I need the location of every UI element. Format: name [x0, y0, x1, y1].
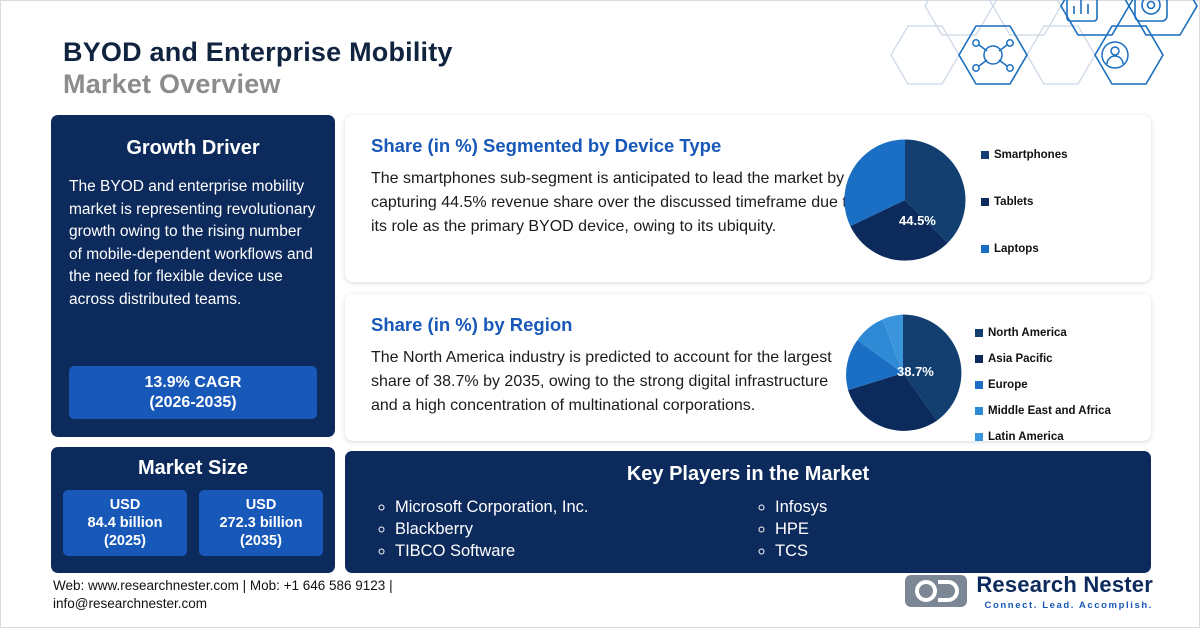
legend-label: Laptops: [994, 243, 1039, 255]
region-text: The North America industry is predicted …: [371, 346, 851, 418]
footer-contact: Web: www.researchnester.com | Mob: +1 64…: [53, 577, 393, 613]
growth-driver-body: The BYOD and enterprise mobility market …: [69, 176, 317, 311]
brand-tagline: Connect. Lead. Accomplish.: [976, 600, 1153, 611]
list-item: TCS: [775, 540, 827, 562]
hexagon-decoration: [871, 0, 1200, 115]
device-type-title: Share (in %) Segmented by Device Type: [371, 135, 721, 157]
device-type-pie-chart: 44.5%: [842, 137, 968, 268]
market-size-year: (2025): [104, 532, 146, 550]
list-item: Blackberry: [395, 518, 761, 540]
legend-item: Asia Pacific: [975, 353, 1111, 365]
legend-item: Laptops: [981, 243, 1068, 255]
brand-name-second: Nester: [1083, 572, 1153, 597]
legend-label: North America: [988, 327, 1067, 339]
list-item: Infosys: [775, 496, 827, 518]
footer-line-2: info@researchnester.com: [53, 595, 393, 613]
legend-item: North America: [975, 327, 1111, 339]
cagr-value: 13.9% CAGR: [69, 373, 317, 393]
device-type-legend: Smartphones Tablets Laptops: [981, 149, 1068, 265]
market-size-item: USD 272.3 billion (2035): [199, 490, 323, 556]
market-size-card: Market Size USD 84.4 billion (2025) USD …: [51, 447, 335, 573]
poster-root: BYOD and Enterprise Mobility Market Over…: [0, 0, 1200, 628]
legend-swatch-icon: [975, 355, 983, 363]
legend-label: Smartphones: [994, 149, 1068, 161]
brand-name-first: Research: [976, 572, 1077, 597]
legend-item: Middle East and Africa: [975, 405, 1111, 417]
key-players-column-left: Microsoft Corporation, Inc. Blackberry T…: [381, 496, 761, 562]
legend-label: Asia Pacific: [988, 353, 1053, 365]
legend-label: Tablets: [994, 196, 1033, 208]
device-type-text: The smartphones sub-segment is anticipat…: [371, 167, 871, 239]
legend-swatch-icon: [975, 329, 983, 337]
market-size-value: 272.3 billion: [220, 514, 303, 532]
legend-item: Europe: [975, 379, 1111, 391]
legend-swatch-icon: [975, 381, 983, 389]
page-subtitle: Market Overview: [63, 69, 281, 100]
brand-text: Research Nester Connect. Lead. Accomplis…: [976, 572, 1153, 611]
legend-item: Smartphones: [981, 149, 1068, 161]
market-size-value: 84.4 billion: [88, 514, 163, 532]
device-type-card: Share (in %) Segmented by Device Type Th…: [345, 115, 1151, 282]
market-size-currency: USD: [110, 496, 141, 514]
region-title: Share (in %) by Region: [371, 314, 572, 336]
market-size-heading: Market Size: [51, 457, 335, 480]
region-legend: North America Asia Pacific Europe Middle…: [975, 327, 1111, 450]
brand-logo: Research Nester Connect. Lead. Accomplis…: [904, 571, 1153, 611]
list-item: HPE: [775, 518, 827, 540]
legend-swatch-icon: [981, 245, 989, 253]
legend-item: Tablets: [981, 196, 1068, 208]
market-size-values: USD 84.4 billion (2025) USD 272.3 billio…: [51, 490, 335, 556]
cagr-period: (2026-2035): [69, 393, 317, 413]
growth-driver-card: Growth Driver The BYOD and enterprise mo…: [51, 115, 335, 437]
research-nester-mark-icon: [904, 571, 968, 611]
header: BYOD and Enterprise Mobility Market Over…: [1, 1, 1200, 105]
brand-name: Research Nester: [976, 572, 1153, 598]
region-pie-chart: 38.7%: [842, 312, 964, 439]
legend-swatch-icon: [981, 198, 989, 206]
legend-swatch-icon: [975, 407, 983, 415]
device-type-data-label: 44.5%: [899, 213, 936, 228]
key-players-heading: Key Players in the Market: [345, 463, 1151, 486]
growth-driver-heading: Growth Driver: [51, 137, 335, 160]
region-data-label: 38.7%: [897, 364, 934, 379]
market-size-year: (2035): [240, 532, 282, 550]
key-players-lists: Microsoft Corporation, Inc. Blackberry T…: [345, 496, 1151, 562]
key-players-column-right: Infosys HPE TCS: [761, 496, 827, 562]
page-title: BYOD and Enterprise Mobility: [63, 37, 453, 68]
market-size-currency: USD: [246, 496, 277, 514]
list-item: Microsoft Corporation, Inc.: [395, 496, 761, 518]
legend-swatch-icon: [975, 433, 983, 441]
list-item: TIBCO Software: [395, 540, 761, 562]
footer-line-1: Web: www.researchnester.com | Mob: +1 64…: [53, 577, 393, 595]
legend-item: Latin America: [975, 431, 1111, 443]
market-size-item: USD 84.4 billion (2025): [63, 490, 187, 556]
legend-swatch-icon: [981, 151, 989, 159]
key-players-card: Key Players in the Market Microsoft Corp…: [345, 451, 1151, 573]
region-card: Share (in %) by Region The North America…: [345, 294, 1151, 441]
legend-label: Middle East and Africa: [988, 405, 1111, 417]
legend-label: Latin America: [988, 431, 1064, 443]
legend-label: Europe: [988, 379, 1028, 391]
cagr-badge: 13.9% CAGR (2026-2035): [69, 366, 317, 419]
device-type-pie-svg: [842, 137, 968, 263]
